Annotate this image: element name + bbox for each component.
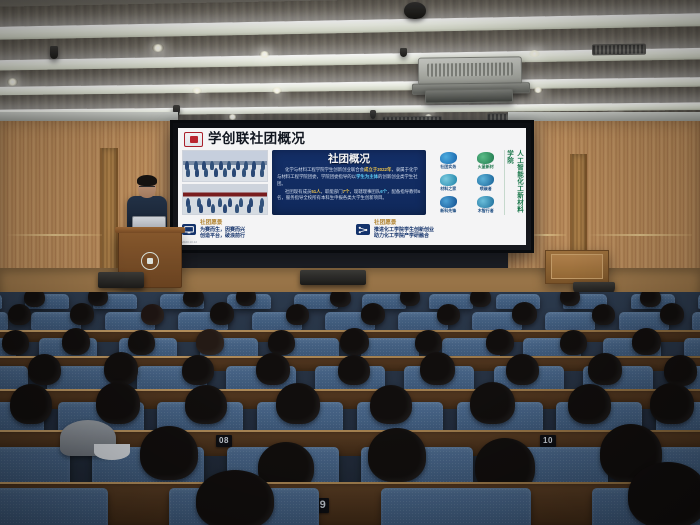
- audience-head: [70, 303, 94, 325]
- slide-title: 学创联社团概况: [208, 132, 305, 146]
- audience-head: [210, 302, 234, 325]
- audience-head: [588, 353, 622, 385]
- slide-footer: 社团愿景 为赛而生，因赛而兴 创造平台，破浪前行 社团愿景 推进化工学院学生创新…: [182, 216, 522, 243]
- group-photo-top: [182, 150, 268, 182]
- audience-head: [96, 382, 140, 424]
- audience-head: [268, 330, 295, 355]
- audience-head: [437, 304, 460, 325]
- projection-screen: 学创联社团概况: [170, 120, 534, 253]
- wall-cornice: [508, 112, 700, 121]
- footer-text: 社团愿景 推进化工学院学生创新创业 助力化工学院产学研融合: [374, 220, 434, 239]
- audience-head: [370, 385, 412, 424]
- audience-head: [196, 329, 224, 355]
- seat[interactable]: [381, 488, 531, 525]
- logo-item: 喷碳者: [468, 172, 505, 193]
- logo-label: 喷碳者: [480, 187, 492, 191]
- slide-body: 社团概况 化学与材料工程学院学生创新创业联合会成立于2022年，隶属于化学与材料…: [182, 150, 522, 215]
- vertical-banner: 人工智能化工新材料学院: [504, 150, 522, 215]
- audience-head: [2, 330, 29, 355]
- textbox-paragraph-2: 社团现有成员51人，职能部门7个，现辖理事团队6个，配备指导教师6名，服务指导全…: [277, 189, 421, 203]
- audience-head: [664, 355, 697, 386]
- presentation-slide: 学创联社团概况: [178, 128, 526, 245]
- audience-head: [276, 383, 320, 424]
- audience-head: [560, 330, 587, 355]
- footer-line: 助力化工学院产学研融合: [374, 233, 434, 239]
- university-crest-icon: [141, 252, 159, 270]
- audience-head: [8, 304, 31, 325]
- ceiling-speaker: [50, 46, 58, 59]
- club-logo-icon: [477, 174, 494, 186]
- audience-head: [183, 292, 204, 307]
- audience-head: [361, 303, 385, 325]
- audience-head: [141, 304, 164, 325]
- group-photo-bottom: [182, 184, 268, 216]
- audience-head: [660, 303, 684, 325]
- downlight-icon: [7, 78, 18, 86]
- ceiling-projector: [404, 2, 426, 19]
- downlight-icon: [152, 44, 164, 52]
- wall-rail: [588, 234, 692, 236]
- footer-item-mission: 社团愿景 推进化工学院学生创新创业 助力化工学院产学研融合: [356, 216, 522, 243]
- university-crest-icon: [184, 132, 203, 147]
- footer-line: 创造平台，破浪前行: [200, 233, 245, 239]
- network-icon: [356, 224, 370, 235]
- logo-label: 材料之家: [440, 187, 456, 191]
- club-logo-icon: [477, 196, 494, 208]
- podium-top: [115, 227, 185, 233]
- cap-brim: [94, 444, 130, 460]
- seat[interactable]: [0, 294, 2, 309]
- seat[interactable]: [545, 312, 595, 330]
- wall-cornice: [0, 112, 178, 121]
- club-logos: 社团实务 火星新材 材料之家 喷碳者: [430, 150, 522, 215]
- wall-rail: [6, 234, 102, 236]
- club-logo-icon: [440, 152, 457, 164]
- audience-head: [196, 470, 274, 525]
- club-logo-icon: [440, 196, 457, 208]
- audience-head: [628, 462, 700, 525]
- footer-title: 社团愿景: [200, 220, 245, 227]
- seat-number: 08: [216, 435, 232, 447]
- logo-label: 社团实务: [440, 165, 456, 169]
- ceiling-speaker: [400, 48, 407, 57]
- audience-head: [88, 292, 108, 306]
- audience-seating: 10 08 10: [0, 292, 700, 525]
- club-logo-icon: [477, 152, 494, 164]
- audience-head: [185, 385, 227, 424]
- glasses-icon: [139, 186, 155, 189]
- audience-head: [28, 354, 61, 385]
- seat[interactable]: [0, 488, 108, 525]
- ac-diffuser: [425, 88, 513, 103]
- vertical-banner-text: 人工智能化工新材料学院: [504, 150, 524, 215]
- ceiling-speaker: [370, 110, 376, 119]
- audience-head: [104, 352, 138, 385]
- audience-head: [632, 328, 661, 355]
- slide-header: 学创联社团概况: [178, 128, 526, 150]
- logo-item: 火星新材: [468, 150, 505, 171]
- seat[interactable]: [692, 312, 700, 330]
- audience-head: [24, 292, 45, 307]
- logo-grid: 社团实务 火星新材 材料之家 喷碳者: [430, 150, 504, 215]
- audience-head: [140, 426, 198, 480]
- downlight-icon: [192, 87, 202, 94]
- seat-number: 10: [540, 435, 556, 447]
- downlight-icon: [533, 87, 543, 93]
- audience-head: [340, 328, 369, 355]
- audience-head: [650, 383, 694, 424]
- logo-item: 木智行者: [468, 194, 505, 215]
- side-table: [545, 250, 609, 284]
- audience-head: [10, 384, 52, 424]
- audience-head: [338, 355, 370, 385]
- club-logo-icon: [440, 174, 457, 186]
- footer-item-vision: 社团愿景 为赛而生，因赛而兴 创造平台，破浪前行: [182, 216, 348, 243]
- speaker-hair: [137, 175, 157, 186]
- slide-textbox: 社团概况 化学与材料工程学院学生创新创业联合会成立于2022年，隶属于化学与材料…: [272, 150, 426, 215]
- side-table-panel: [551, 254, 603, 279]
- av-equipment: [300, 270, 366, 285]
- audience-head: [486, 329, 514, 355]
- audience-head: [182, 355, 214, 385]
- audience-head: [640, 292, 661, 307]
- downlight-icon: [272, 87, 282, 94]
- footer-text: 社团愿景 为赛而生，因赛而兴 创造平台，破浪前行: [200, 220, 245, 239]
- auditorium-photo: 学创联社团概况: [0, 0, 700, 525]
- seat[interactable]: [0, 312, 8, 330]
- audience-head: [128, 330, 155, 355]
- downlight-icon: [259, 51, 270, 58]
- audience-head: [420, 352, 455, 385]
- logo-item: 新科先锋: [430, 194, 467, 215]
- door-left[interactable]: [100, 148, 118, 278]
- logo-item: 社团实务: [430, 150, 467, 171]
- photo-collage: [182, 150, 268, 215]
- logo-label: 新科先锋: [440, 209, 456, 213]
- av-equipment: [98, 272, 144, 288]
- audience-head: [506, 354, 539, 385]
- logo-label: 火星新材: [478, 165, 494, 169]
- ceiling: [0, 0, 700, 120]
- textbox-heading: 社团概况: [277, 153, 421, 165]
- textbox-paragraph-1: 化学与材料工程学院学生创新创业联合会成立于2022年，隶属于化学与材料工程学院团…: [277, 167, 421, 187]
- logo-label: 木智行者: [478, 209, 494, 213]
- audience-head: [512, 302, 537, 325]
- ac-grill: [427, 62, 513, 77]
- audience-head: [286, 304, 309, 325]
- logo-item: 材料之家: [430, 172, 467, 193]
- footer-title: 社团愿景: [374, 220, 434, 227]
- slide-stamp: 2023.10.12: [182, 240, 197, 244]
- audience-head: [236, 292, 256, 306]
- audience-head: [592, 304, 615, 325]
- audience-head: [62, 328, 90, 355]
- downlight-icon: [529, 50, 540, 57]
- ceiling-ac-unit: [418, 56, 522, 85]
- audience-head: [368, 428, 426, 482]
- seat-row: [0, 488, 700, 525]
- audience-head: [256, 353, 290, 385]
- audience-head: [568, 384, 611, 424]
- audience-head: [330, 292, 351, 307]
- ceiling-vent: [592, 44, 646, 56]
- audience-head: [400, 292, 420, 306]
- audience-head: [470, 292, 491, 307]
- audience-head: [560, 292, 580, 306]
- audience-head: [470, 382, 515, 424]
